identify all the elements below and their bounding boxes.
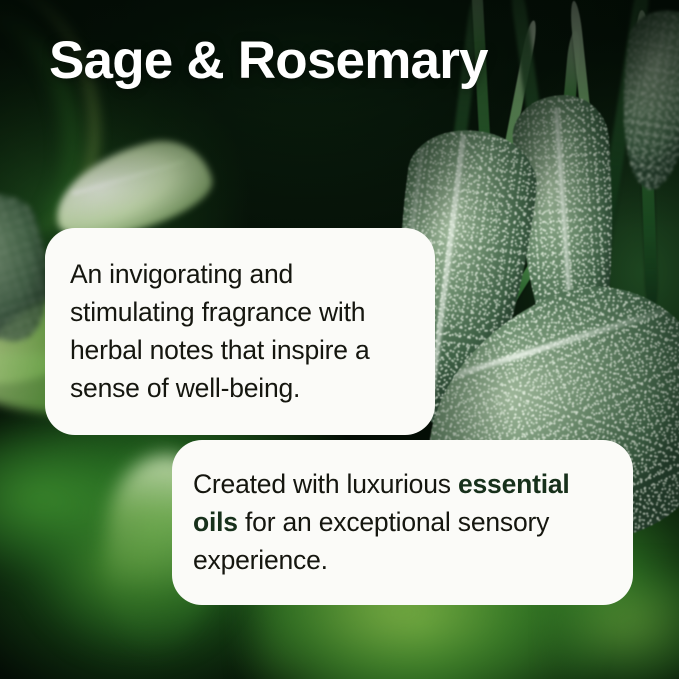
- product-fragrance-banner: Sage & Rosemary An invigorating and stim…: [0, 0, 679, 679]
- page-title: Sage & Rosemary: [49, 30, 488, 92]
- ingredients-card: Created with luxurious essential oils fo…: [172, 440, 633, 605]
- description-card-text: An invigorating and stimulating fragranc…: [70, 255, 409, 407]
- description-card: An invigorating and stimulating fragranc…: [45, 228, 435, 435]
- banner-content: Sage & Rosemary An invigorating and stim…: [0, 0, 679, 679]
- ingredients-lead-text: Created with luxurious: [193, 469, 458, 499]
- ingredients-card-text: Created with luxurious essential oils fo…: [193, 465, 607, 579]
- ingredients-trail-text: for an exceptional sensory experience.: [193, 507, 549, 575]
